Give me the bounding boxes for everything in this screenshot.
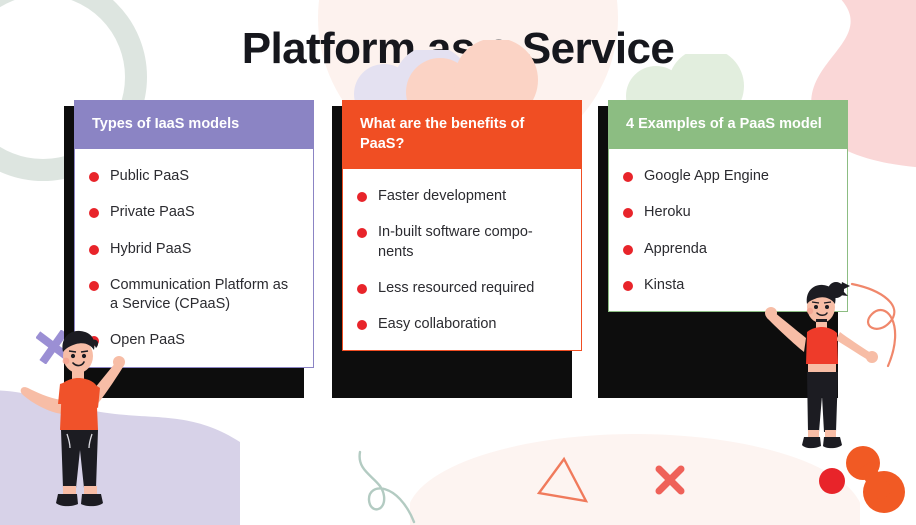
list-item: Less resourced required <box>357 279 567 298</box>
card-benefits-of-paas: What are the benefits of PaaS? Faster de… <box>342 100 582 351</box>
list-item: Google App Engine <box>623 167 833 186</box>
triangle-outline-icon <box>536 455 590 505</box>
list-item-label: In-built software compo-nents <box>378 223 567 262</box>
card-2-list: Faster development In-built software com… <box>357 187 567 334</box>
list-item-label: Apprenda <box>644 240 707 259</box>
list-item: Communication Platform as a Service (CPa… <box>89 276 299 315</box>
bullet-dot-icon <box>623 245 633 255</box>
list-item-label: Less resourced required <box>378 279 534 298</box>
bullet-dot-icon <box>623 208 633 218</box>
list-item: Hybrid PaaS <box>89 240 299 259</box>
bullet-dot-icon <box>357 284 367 294</box>
bullet-dot-icon <box>89 172 99 182</box>
infographic-canvas: Platform as a Service Types of IaaS mode… <box>0 0 916 525</box>
list-item-label: Heroku <box>644 203 691 222</box>
list-item-label: Kinsta <box>644 276 684 295</box>
bullet-dot-icon <box>357 320 367 330</box>
bullet-dot-icon <box>89 245 99 255</box>
bullet-dot-icon <box>89 281 99 291</box>
list-item-label: Private PaaS <box>110 203 195 222</box>
bullet-dot-icon <box>89 208 99 218</box>
bullet-dot-icon <box>357 192 367 202</box>
list-item-label: Faster development <box>378 187 506 206</box>
list-item-label: Hybrid PaaS <box>110 240 191 259</box>
list-item: Apprenda <box>623 240 833 259</box>
squiggle-loop-icon <box>352 448 442 525</box>
list-item-label: Easy collaboration <box>378 315 497 334</box>
list-item: Heroku <box>623 203 833 222</box>
bullet-dot-icon <box>357 228 367 238</box>
person-waving-left-illustration <box>14 318 144 518</box>
card-3-header: 4 Examples of a PaaS model <box>608 100 848 149</box>
list-item-label: Communication Platform as a Service (CPa… <box>110 276 299 315</box>
card-2-header: What are the benefits of PaaS? <box>342 100 582 169</box>
bullet-dot-icon <box>623 172 633 182</box>
person-waving-right-illustration <box>762 276 882 456</box>
list-item-label: Public PaaS <box>110 167 189 186</box>
list-item: Easy collaboration <box>357 315 567 334</box>
list-item: In-built software compo-nents <box>357 223 567 262</box>
bullet-dot-icon <box>623 281 633 291</box>
list-item: Private PaaS <box>89 203 299 222</box>
list-item-label: Google App Engine <box>644 167 769 186</box>
asterisk-cross-icon <box>652 462 688 498</box>
list-item: Public PaaS <box>89 167 299 186</box>
card-1-header: Types of IaaS models <box>74 100 314 149</box>
card-2-body: Faster development In-built software com… <box>342 169 582 351</box>
list-item: Faster development <box>357 187 567 206</box>
